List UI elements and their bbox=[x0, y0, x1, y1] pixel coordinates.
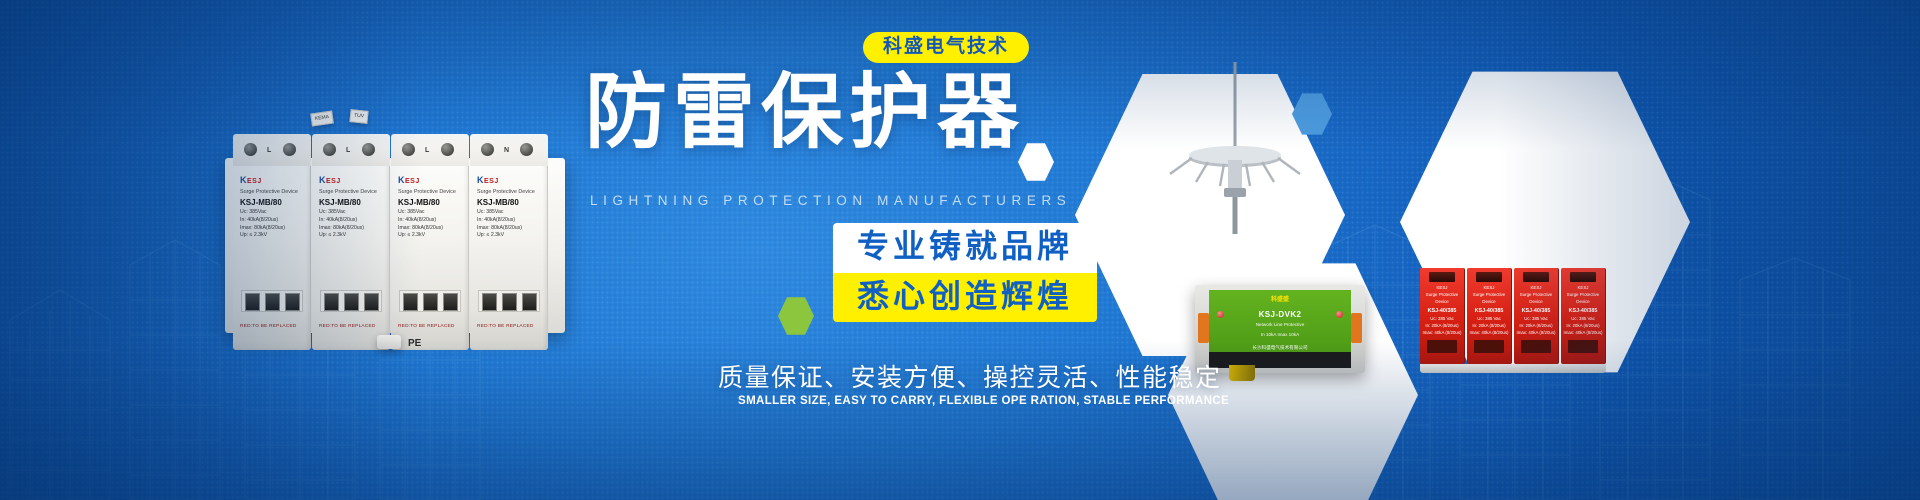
module-cap bbox=[1476, 272, 1502, 282]
pole-label: N bbox=[504, 146, 509, 157]
feature-list-english: SMALLER SIZE, EASY TO CARRY, FLEXIBLE OP… bbox=[738, 395, 1229, 407]
surge-protector-product-photo: L KESJ Surge Protective Device KSJ-MB/80… bbox=[225, 118, 565, 333]
device-desc-line-1: Network Line Protective bbox=[1209, 322, 1351, 329]
spec-key: Uc: bbox=[477, 209, 485, 215]
spec-key: Up: bbox=[319, 232, 327, 238]
spec-value: 385Vac bbox=[486, 209, 503, 215]
spec-value: ≤ 2.3kV bbox=[408, 232, 426, 238]
terminal-block bbox=[1198, 313, 1209, 343]
status-led-icon bbox=[1217, 311, 1224, 318]
status-window bbox=[1521, 340, 1551, 353]
spec-value: 80kA(8/20us) bbox=[412, 225, 443, 231]
product-brand: KESJ bbox=[477, 174, 499, 188]
terminal-screw-icon bbox=[323, 143, 336, 156]
slogan-block: 专业铸就品牌 悉心创造辉煌 bbox=[833, 223, 1097, 322]
hex-green-accent-decoration bbox=[778, 296, 814, 336]
certification-tag-2: TUV bbox=[349, 109, 368, 123]
spec-line: In: 20kA (8/20us) bbox=[1561, 323, 1605, 330]
device-type: Surge Protective Device bbox=[1561, 292, 1605, 306]
red-surge-protector-bank: KESJ Surge Protective Device KSJ-40/385 … bbox=[1420, 268, 1610, 373]
spec-value: 40kA(8/20us) bbox=[247, 217, 278, 223]
slogan-line-1: 专业铸就品牌 bbox=[833, 223, 1097, 273]
module-cap bbox=[1429, 272, 1455, 282]
spd-module-3: L KESJ Surge Protective Device KSJ-MB/80… bbox=[391, 164, 469, 350]
spd-base-rail bbox=[1420, 364, 1606, 373]
pole-label: L bbox=[425, 146, 429, 157]
device-company-cn: 长沙科盛电气技术有限公司 bbox=[1209, 345, 1351, 351]
red-spd-module-3: KESJ Surge Protective Device KSJ-40/385 … bbox=[1514, 268, 1559, 364]
spec-value: ≤ 2.3kV bbox=[487, 232, 505, 238]
replace-warning-text: RED:TO BE REPLACED bbox=[398, 323, 455, 330]
spec-value: ≤ 2.3kV bbox=[250, 232, 268, 238]
module-cap bbox=[1523, 272, 1549, 282]
module-cap bbox=[1570, 272, 1596, 282]
device-brand-cn: 科盛盛 bbox=[1209, 294, 1351, 303]
promo-banner: L KESJ Surge Protective Device KSJ-MB/80… bbox=[0, 0, 1920, 500]
slogan-line-2: 悉心创造辉煌 bbox=[833, 273, 1097, 323]
spec-key: In: bbox=[240, 217, 246, 223]
module-terminal-cap: N bbox=[470, 134, 548, 166]
product-brand: KESJ bbox=[240, 174, 262, 188]
terminal-screw-icon bbox=[283, 143, 296, 156]
spec-line: In: 20kA (8/20us) bbox=[1514, 323, 1558, 330]
device-brand: KESJ bbox=[1467, 285, 1511, 292]
device-brand: KESJ bbox=[1420, 285, 1464, 292]
terminal-screw-icon bbox=[481, 143, 494, 156]
spec-value: 385Vac bbox=[249, 209, 266, 215]
spd-module-4: N KESJ Surge Protective Device KSJ-MB/80… bbox=[470, 164, 548, 350]
product-model: KSJ-MB/80 bbox=[477, 197, 519, 209]
pe-terminal-label: PE bbox=[408, 338, 421, 349]
product-model: KSJ-MB/80 bbox=[240, 197, 282, 209]
replace-warning-text: RED:TO BE REPLACED bbox=[319, 323, 376, 330]
spec-key: In: bbox=[319, 217, 325, 223]
page-subtitle-english: LIGHTNING PROTECTION MANUFACTURERS bbox=[590, 193, 1071, 208]
status-window bbox=[478, 290, 540, 312]
product-brand: KESJ bbox=[398, 174, 420, 188]
spec-key: In: bbox=[477, 217, 483, 223]
product-model: KSJ-MB/80 bbox=[319, 197, 361, 209]
spec-key: Uc: bbox=[319, 209, 327, 215]
spec-key: Imax: bbox=[398, 225, 411, 231]
device-model: KSJ-DVK2 bbox=[1209, 310, 1351, 319]
page-title: 防雷保护器 bbox=[585, 72, 1005, 154]
pole-label: L bbox=[346, 146, 350, 157]
spec-line: Imax: 40kA (8/20us) bbox=[1514, 330, 1558, 337]
device-desc-line-2: In 10kA Imax 10kA bbox=[1209, 332, 1351, 339]
device-model: KSJ-40/385 bbox=[1420, 307, 1464, 315]
device-type: Surge Protective Device bbox=[1514, 292, 1558, 306]
pe-terminal-knob bbox=[377, 335, 401, 349]
spec-value: 40kA(8/20us) bbox=[405, 217, 436, 223]
terminal-screw-icon bbox=[441, 143, 454, 156]
spec-value: 385Vac bbox=[407, 209, 424, 215]
device-type: Surge Protective Device bbox=[1467, 292, 1511, 306]
device-model: KSJ-40/385 bbox=[1514, 307, 1558, 315]
module-terminal-cap: L bbox=[391, 134, 469, 166]
product-type-label: Surge Protective Device bbox=[398, 188, 456, 196]
device-type: Surge Protective Device bbox=[1420, 292, 1464, 306]
brand-pill-badge: 科盛电气技术 bbox=[863, 32, 1029, 63]
certification-tag-1: KEMA bbox=[310, 111, 334, 126]
spec-key: Imax: bbox=[319, 225, 332, 231]
red-spd-module-4: KESJ Surge Protective Device KSJ-40/385 … bbox=[1561, 268, 1606, 364]
pole-label: L bbox=[267, 146, 271, 157]
status-led-icon bbox=[1336, 311, 1343, 318]
spec-key: Uc: bbox=[398, 209, 406, 215]
terminal-block bbox=[1351, 313, 1362, 343]
terminal-screw-icon bbox=[402, 143, 415, 156]
product-type-label: Surge Protective Device bbox=[240, 188, 298, 196]
terminal-screw-icon bbox=[244, 143, 257, 156]
module-terminal-cap: L bbox=[312, 134, 390, 166]
spd-module-2: L KESJ Surge Protective Device KSJ-MB/80… bbox=[312, 164, 390, 350]
product-type-label: Surge Protective Device bbox=[477, 188, 535, 196]
spec-key: Imax: bbox=[240, 225, 253, 231]
spec-line: Imax: 40kA (8/20us) bbox=[1467, 330, 1511, 337]
spec-key: Uc: bbox=[240, 209, 248, 215]
spec-key: Up: bbox=[240, 232, 248, 238]
spec-line: Uc: 385 Vac bbox=[1561, 316, 1605, 323]
status-window bbox=[399, 290, 461, 312]
product-type-label: Surge Protective Device bbox=[319, 188, 377, 196]
product-spec-list: Uc: 385Vac In: 40kA(8/20us) Imax: 80kA(8… bbox=[319, 209, 364, 240]
status-window bbox=[241, 290, 303, 312]
status-window bbox=[1568, 340, 1598, 353]
status-window bbox=[1474, 340, 1504, 353]
device-model: KSJ-40/385 bbox=[1561, 307, 1605, 315]
terminal-screw-icon bbox=[520, 143, 533, 156]
spec-key: Up: bbox=[398, 232, 406, 238]
spec-value: ≤ 2.3kV bbox=[329, 232, 347, 238]
spec-line: Uc: 385 Vac bbox=[1467, 316, 1511, 323]
device-model: KSJ-40/385 bbox=[1467, 307, 1511, 315]
replace-warning-text: RED:TO BE REPLACED bbox=[477, 323, 534, 330]
spec-value: 40kA(8/20us) bbox=[484, 217, 515, 223]
spec-key: In: bbox=[398, 217, 404, 223]
spec-key: Imax: bbox=[477, 225, 490, 231]
status-window bbox=[1427, 340, 1457, 353]
spd-module-1: L KESJ Surge Protective Device KSJ-MB/80… bbox=[233, 164, 311, 350]
spec-value: 80kA(8/20us) bbox=[491, 225, 522, 231]
device-brand: KESJ bbox=[1561, 285, 1605, 292]
product-spec-list: Uc: 385Vac In: 40kA(8/20us) Imax: 80kA(8… bbox=[240, 209, 285, 240]
red-spd-module-1: KESJ Surge Protective Device KSJ-40/385 … bbox=[1420, 268, 1465, 364]
spec-value: 40kA(8/20us) bbox=[326, 217, 357, 223]
product-model: KSJ-MB/80 bbox=[398, 197, 440, 209]
spec-value: 80kA(8/20us) bbox=[254, 225, 285, 231]
replace-warning-text: RED:TO BE REPLACED bbox=[240, 323, 297, 330]
spec-line: In: 20kA (8/20us) bbox=[1420, 323, 1464, 330]
module-terminal-cap: L bbox=[233, 134, 311, 166]
cert-name: TUV bbox=[354, 112, 365, 119]
spec-line: Uc: 385 Vac bbox=[1420, 316, 1464, 323]
spec-line: In: 20kA (8/20us) bbox=[1467, 323, 1511, 330]
product-spec-list: Uc: 385Vac In: 40kA(8/20us) Imax: 80kA(8… bbox=[477, 209, 522, 240]
device-face-panel: 科盛盛 KSJ-DVK2 Network Line Protective In … bbox=[1209, 290, 1351, 352]
spec-value: 80kA(8/20us) bbox=[333, 225, 364, 231]
spec-line: Imax: 40kA (8/20us) bbox=[1561, 330, 1605, 337]
terminal-screw-icon bbox=[362, 143, 375, 156]
spec-line: Uc: 385 Vac bbox=[1514, 316, 1558, 323]
device-brand: KESJ bbox=[1514, 285, 1558, 292]
cert-name: KEMA bbox=[315, 114, 330, 122]
spec-value: 385Vac bbox=[328, 209, 345, 215]
product-spec-list: Uc: 385Vac In: 40kA(8/20us) Imax: 80kA(8… bbox=[398, 209, 443, 240]
spec-key: Up: bbox=[477, 232, 485, 238]
grounding-wire bbox=[1229, 365, 1255, 381]
lightning-rod-device bbox=[1140, 62, 1330, 237]
status-window bbox=[320, 290, 382, 312]
spec-line: Imax: 40kA (8/20us) bbox=[1420, 330, 1464, 337]
red-spd-module-2: KESJ Surge Protective Device KSJ-40/385 … bbox=[1467, 268, 1512, 364]
product-brand: KESJ bbox=[319, 174, 341, 188]
feature-list-chinese: 质量保证、安装方便、操控灵活、性能稳定 bbox=[718, 358, 1222, 394]
